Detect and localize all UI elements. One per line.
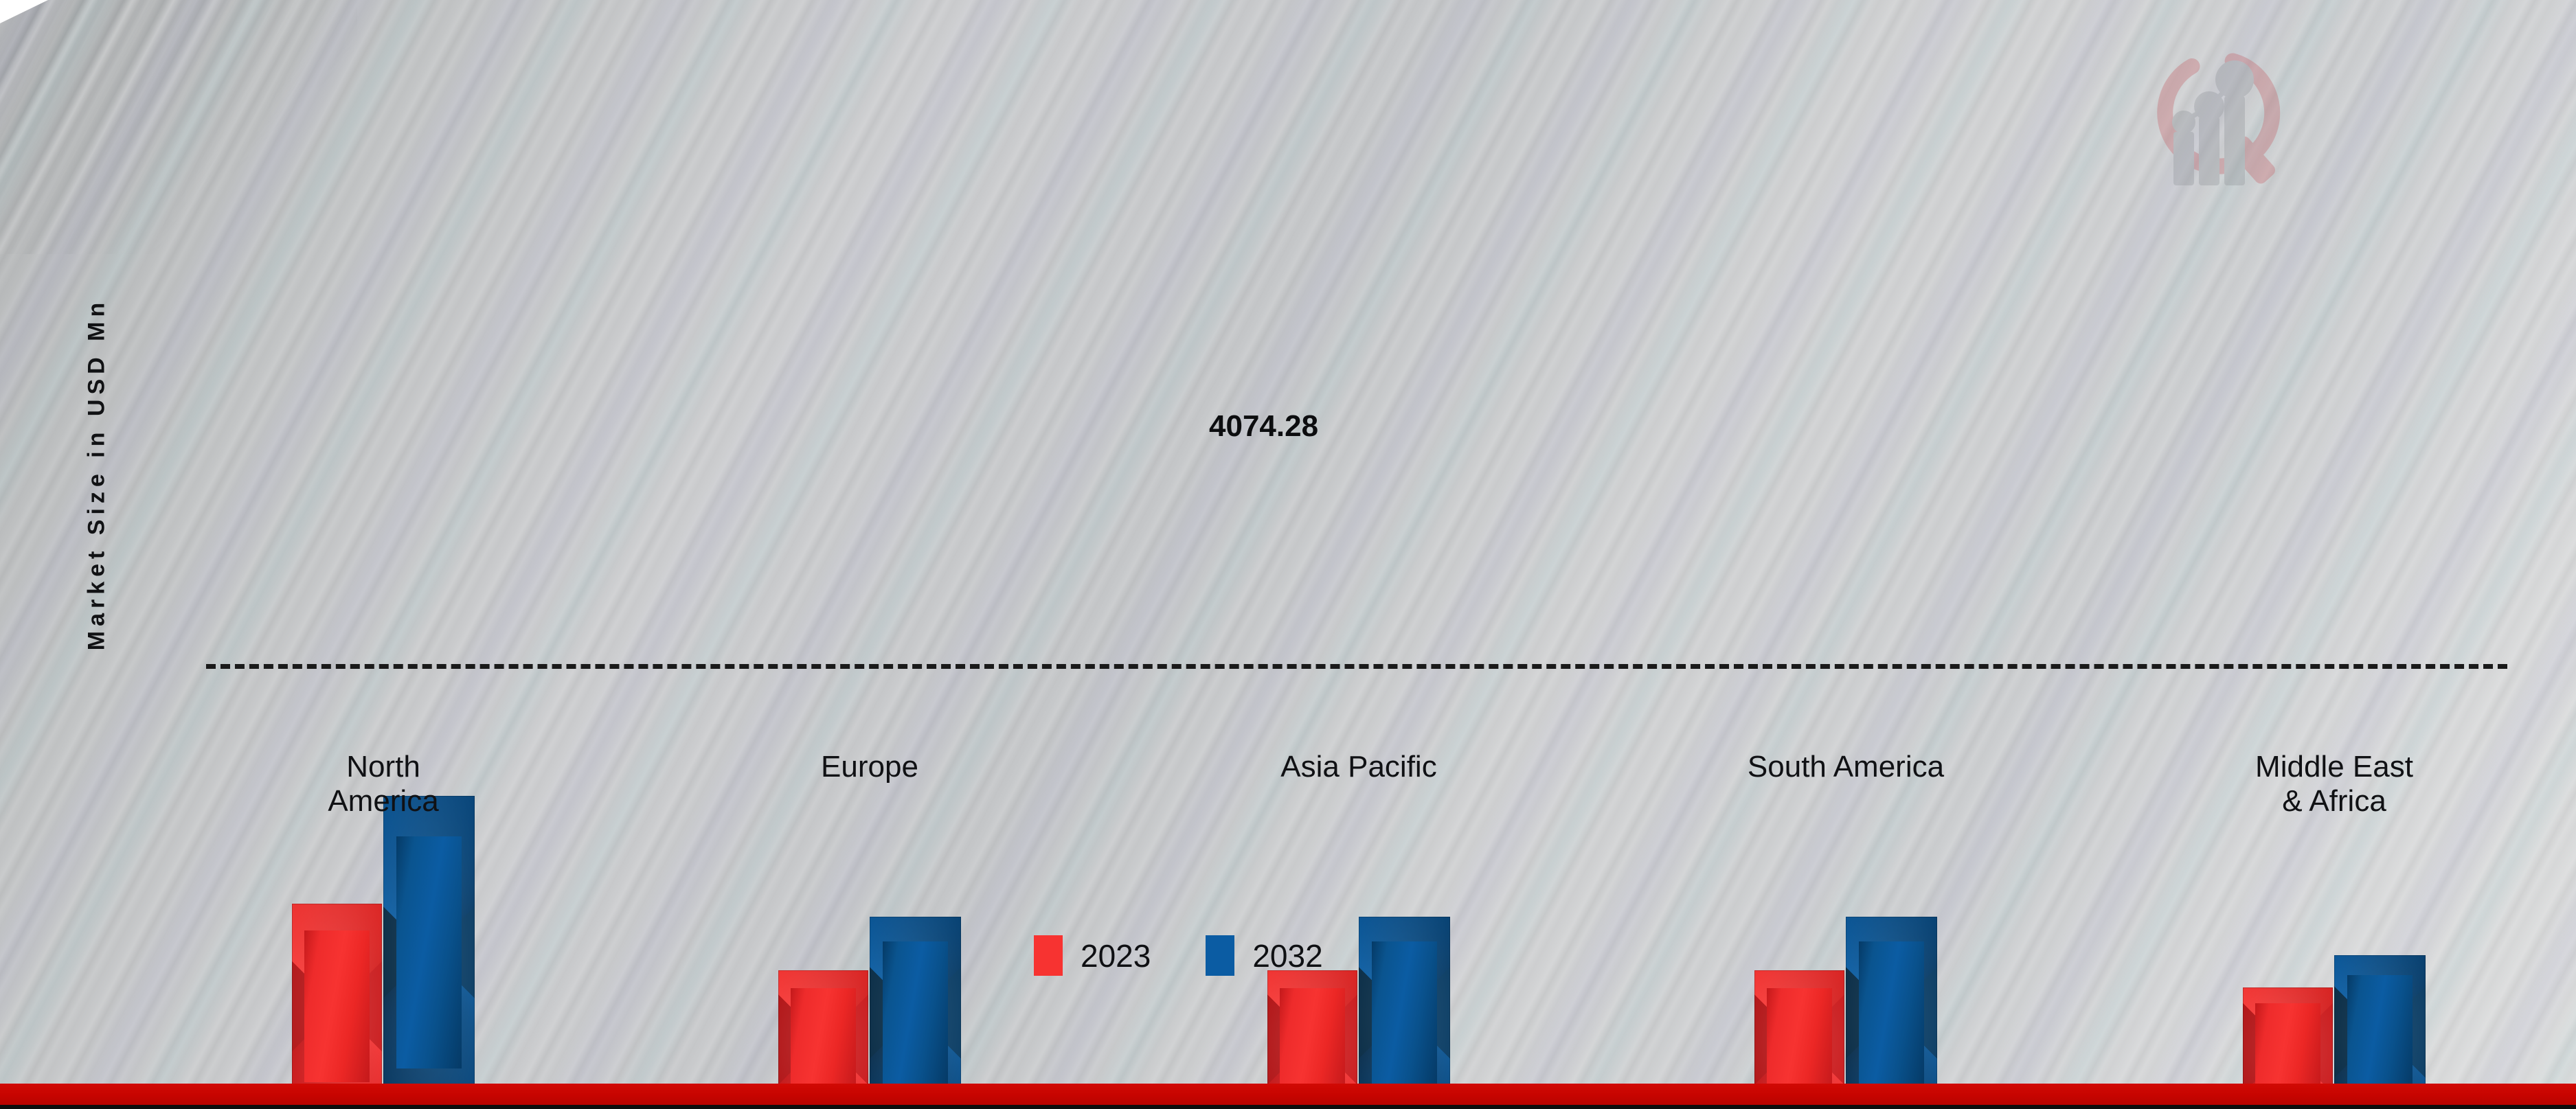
- legend-swatch-2023-icon: [1034, 935, 1063, 976]
- legend-label-2023: 2023: [1081, 937, 1151, 974]
- bar-2032-north-america[interactable]: [383, 796, 475, 1109]
- data-label-asia-pacific-2032: 4074.28: [1209, 409, 1318, 444]
- category-label-europe: Europe: [760, 750, 980, 784]
- legend-label-2032: 2032: [1252, 937, 1322, 974]
- category-label-north-america: North America: [273, 750, 493, 819]
- bar-2032-south-america[interactable]: [1846, 917, 1937, 1109]
- chart-legend: 2023 2032: [1034, 935, 1378, 976]
- legend-item-2032[interactable]: 2032: [1206, 935, 1377, 976]
- footer-rule: [0, 1105, 2576, 1109]
- bar-2023-north-america[interactable]: [292, 904, 382, 1109]
- legend-swatch-2032-icon: [1206, 935, 1234, 976]
- bar-2032-europe[interactable]: [870, 917, 961, 1109]
- category-label-middle-east-africa: Middle East & Africa: [2224, 750, 2444, 819]
- chart-canvas: Market Size in USD Mn North America Euro…: [0, 0, 2576, 1109]
- category-label-asia-pacific: Asia Pacific: [1249, 750, 1469, 784]
- legend-item-2023[interactable]: 2023: [1034, 935, 1206, 976]
- category-label-south-america: South America: [1736, 750, 1956, 784]
- footer-accent-bar: [0, 1084, 2576, 1105]
